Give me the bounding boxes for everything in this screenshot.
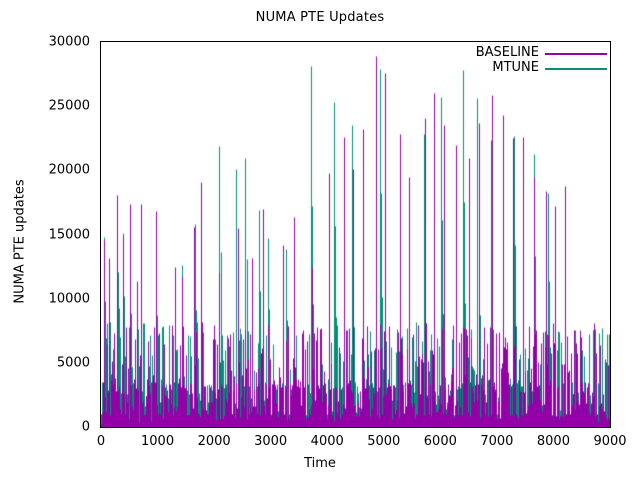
x-axis-title: Time	[0, 456, 640, 471]
legend-entry: BASELINE	[455, 45, 607, 61]
legend-entry: MTUNE	[455, 60, 607, 76]
legend-label: MTUNE	[492, 60, 539, 76]
plot-data-canvas	[101, 42, 610, 427]
x-axis-tick-label: 9000	[570, 434, 640, 449]
y-axis-tick-label: 20000	[2, 163, 90, 178]
chart-window: NUMA PTE Updates NUMA PTE updates Time 0…	[0, 0, 640, 480]
legend-color-swatch	[545, 68, 607, 70]
plot-area	[100, 41, 611, 428]
y-axis-tick-label: 15000	[2, 227, 90, 242]
y-axis-tick-label: 0	[2, 420, 90, 435]
y-axis-tick-label: 25000	[2, 99, 90, 114]
page-title: NUMA PTE Updates	[0, 10, 640, 25]
y-axis-tick-label: 10000	[2, 291, 90, 306]
y-axis-tick-label: 5000	[2, 355, 90, 370]
legend-color-swatch	[545, 53, 607, 55]
y-axis-tick-label: 30000	[2, 35, 90, 50]
legend-label: BASELINE	[476, 45, 539, 61]
